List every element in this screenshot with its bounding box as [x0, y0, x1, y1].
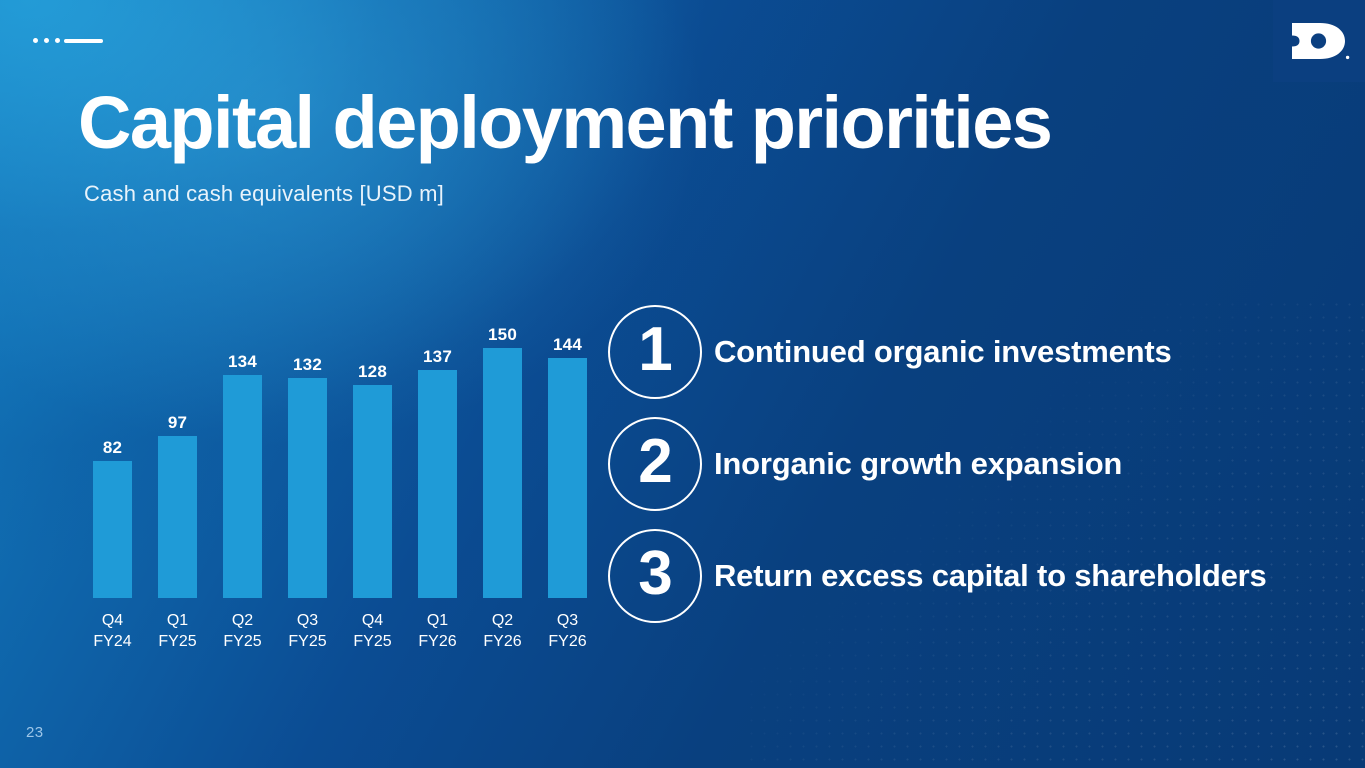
x-label-year: FY26 — [405, 632, 470, 652]
chart-x-axis-label: Q4FY24 — [80, 611, 145, 652]
x-label-quarter: Q4 — [340, 611, 405, 631]
chart-column: 150 — [470, 322, 535, 598]
priority-number: 3 — [638, 543, 671, 605]
chart-x-axis-label: Q1FY26 — [405, 611, 470, 652]
x-label-year: FY25 — [210, 632, 275, 652]
header-line — [64, 39, 103, 43]
priority-number-badge: 2 — [608, 417, 702, 511]
priority-number: 1 — [638, 319, 671, 381]
chart-bar[interactable] — [288, 378, 327, 598]
priority-label: Return excess capital to shareholders — [714, 558, 1267, 594]
priority-label: Inorganic growth expansion — [714, 446, 1122, 482]
x-label-quarter: Q3 — [535, 611, 600, 631]
priority-item-1[interactable]: 1Continued organic investments — [608, 296, 1267, 408]
x-label-quarter: Q2 — [210, 611, 275, 631]
chart-x-axis-label: Q3FY26 — [535, 611, 600, 652]
chart-x-axis-label: Q4FY25 — [340, 611, 405, 652]
chart-column: 134 — [210, 349, 275, 598]
x-label-year: FY26 — [470, 632, 535, 652]
priority-number: 2 — [638, 431, 671, 493]
priority-number-badge: 1 — [608, 305, 702, 399]
chart-bar[interactable] — [418, 370, 457, 598]
priority-label: Continued organic investments — [714, 334, 1172, 370]
x-label-year: FY25 — [145, 632, 210, 652]
chart-bar[interactable] — [223, 375, 262, 598]
priorities-list: 1Continued organic investments2Inorganic… — [608, 296, 1267, 632]
chart-bar[interactable] — [548, 358, 587, 598]
header-dot-1 — [33, 38, 38, 43]
chart-x-axis-label: Q1FY25 — [145, 611, 210, 652]
page-title: Capital deployment priorities — [78, 86, 1051, 160]
x-label-quarter: Q3 — [275, 611, 340, 631]
chart-column: 128 — [340, 359, 405, 598]
chart-bar[interactable] — [483, 348, 522, 598]
slide-canvas: Capital deployment priorities Cash and c… — [0, 0, 1365, 768]
x-label-quarter: Q1 — [405, 611, 470, 631]
company-logo — [1273, 0, 1365, 82]
x-label-quarter: Q1 — [145, 611, 210, 631]
priority-number-badge: 3 — [608, 529, 702, 623]
chart-column: 132 — [275, 352, 340, 598]
chart-x-axis-label: Q2FY26 — [470, 611, 535, 652]
x-label-year: FY24 — [80, 632, 145, 652]
bar-value-label: 97 — [145, 413, 210, 433]
bar-value-label: 132 — [275, 355, 340, 375]
page-number: 23 — [26, 724, 44, 741]
chart-column: 144 — [535, 332, 600, 598]
header-dot-3 — [55, 38, 60, 43]
chart-column: 82 — [80, 435, 145, 598]
x-label-year: FY25 — [340, 632, 405, 652]
chart-bar[interactable] — [158, 436, 197, 598]
priority-item-2[interactable]: 2Inorganic growth expansion — [608, 408, 1267, 520]
x-label-quarter: Q4 — [80, 611, 145, 631]
header-rule — [33, 38, 1242, 43]
priority-item-3[interactable]: 3Return excess capital to shareholders — [608, 520, 1267, 632]
bar-value-label: 144 — [535, 335, 600, 355]
chart-x-axis-label: Q3FY25 — [275, 611, 340, 652]
chart-bar[interactable] — [353, 385, 392, 598]
header-dot-2 — [44, 38, 49, 43]
bar-value-label: 134 — [210, 352, 275, 372]
bar-value-label: 137 — [405, 347, 470, 367]
chart-column: 137 — [405, 344, 470, 598]
cash-equivalents-bar-chart: 82Q4FY2497Q1FY25134Q2FY25132Q3FY25128Q4F… — [80, 250, 610, 670]
page-subtitle: Cash and cash equivalents [USD m] — [84, 181, 444, 207]
x-label-year: FY26 — [535, 632, 600, 652]
x-label-year: FY25 — [275, 632, 340, 652]
chart-bar[interactable] — [93, 461, 132, 598]
bar-value-label: 82 — [80, 438, 145, 458]
bar-value-label: 150 — [470, 325, 535, 345]
bar-value-label: 128 — [340, 362, 405, 382]
chart-column: 97 — [145, 410, 210, 598]
chart-x-axis-label: Q2FY25 — [210, 611, 275, 652]
x-label-quarter: Q2 — [470, 611, 535, 631]
